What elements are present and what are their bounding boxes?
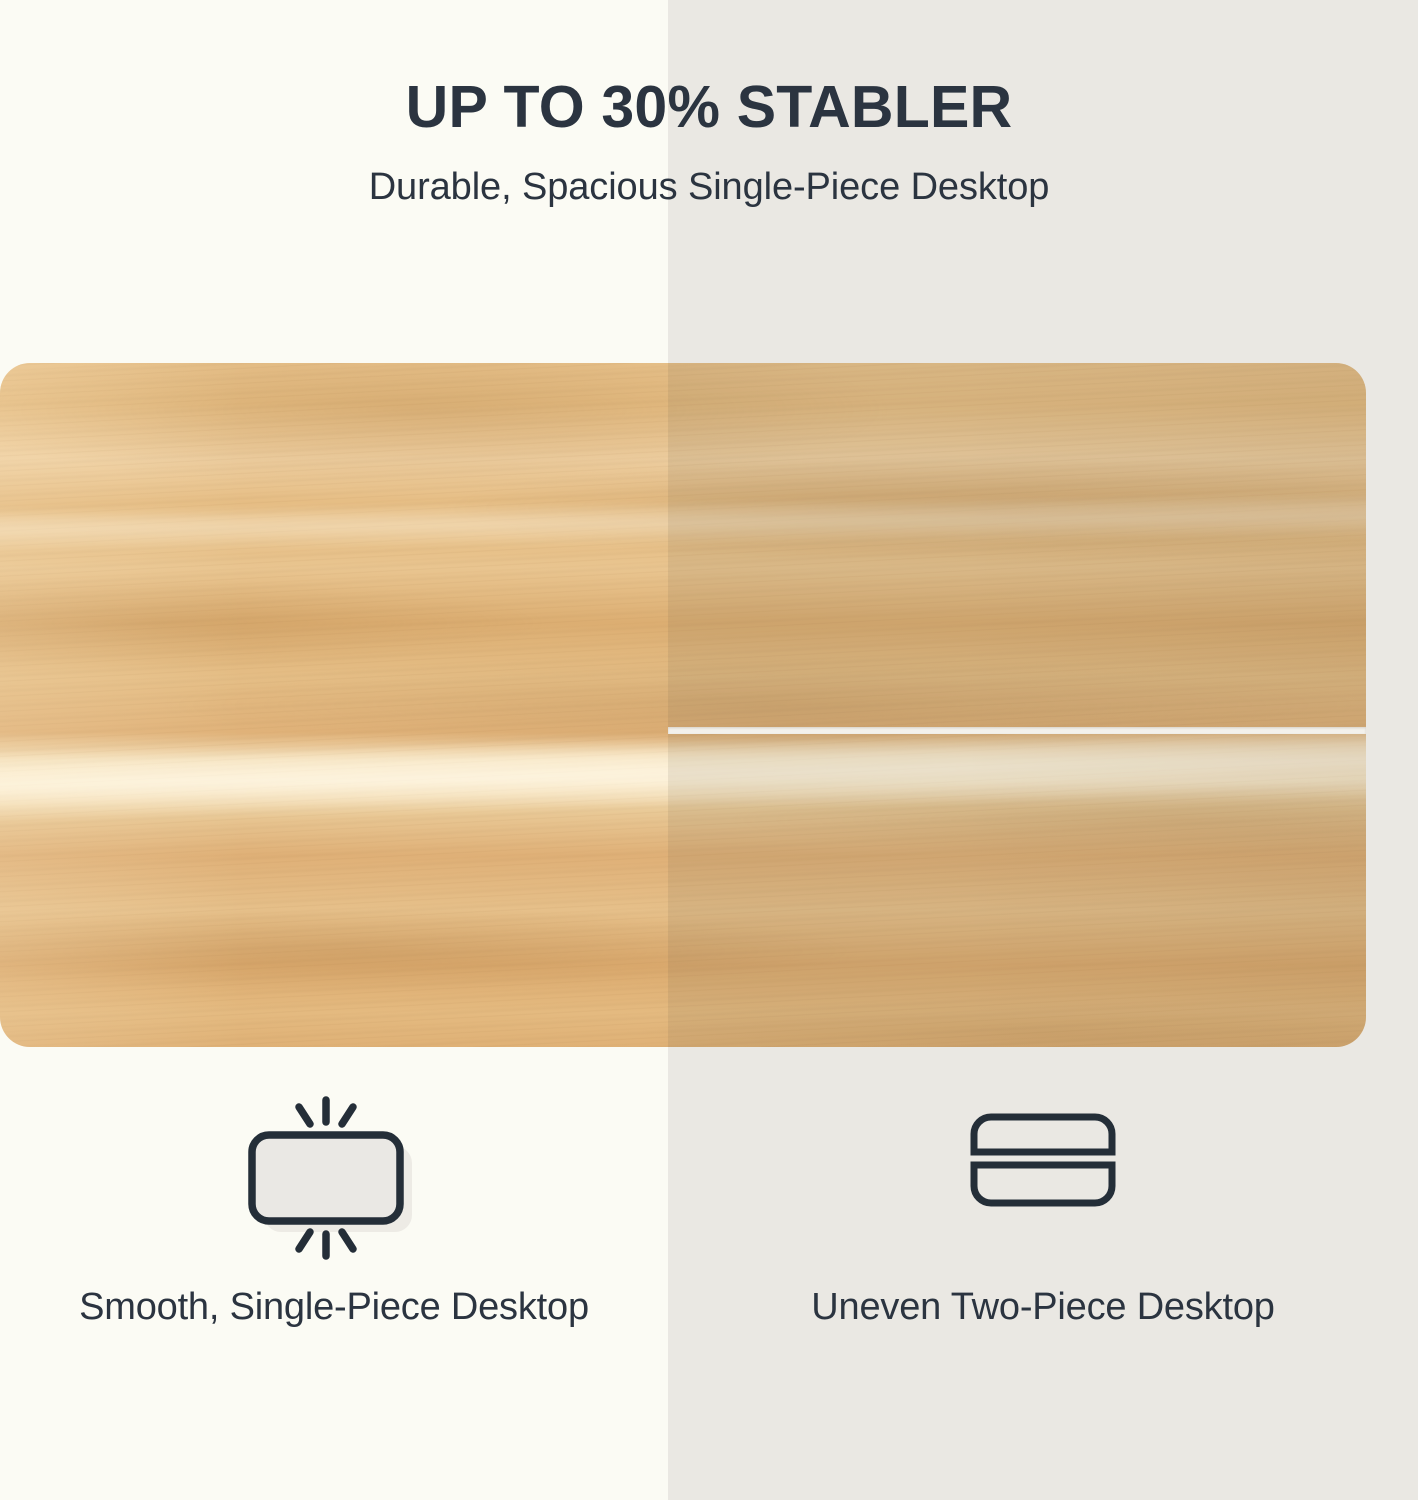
- desktop-board-image: [0, 363, 1366, 1047]
- two-piece-desktop-icon: [953, 1110, 1133, 1240]
- single-piece-desktop-icon: [234, 1088, 434, 1263]
- page-title: UP TO 30% STABLER: [0, 0, 1418, 139]
- caption-single-piece: Smooth, Single-Piece Desktop: [44, 1278, 624, 1337]
- right-icon-cell: [668, 1085, 1418, 1265]
- header-block: UP TO 30% STABLER Durable, Spacious Sing…: [0, 0, 1418, 210]
- left-icon-cell: [0, 1085, 668, 1265]
- board-comparison-overlay: [668, 363, 1366, 1047]
- page-subtitle: Durable, Spacious Single-Piece Desktop: [0, 139, 1418, 211]
- comparison-icons-row: [0, 1085, 1418, 1265]
- product-comparison-poster: UP TO 30% STABLER Durable, Spacious Sing…: [0, 0, 1418, 1500]
- caption-two-piece: Uneven Two-Piece Desktop: [718, 1278, 1368, 1337]
- board-seam-line: [668, 727, 1366, 734]
